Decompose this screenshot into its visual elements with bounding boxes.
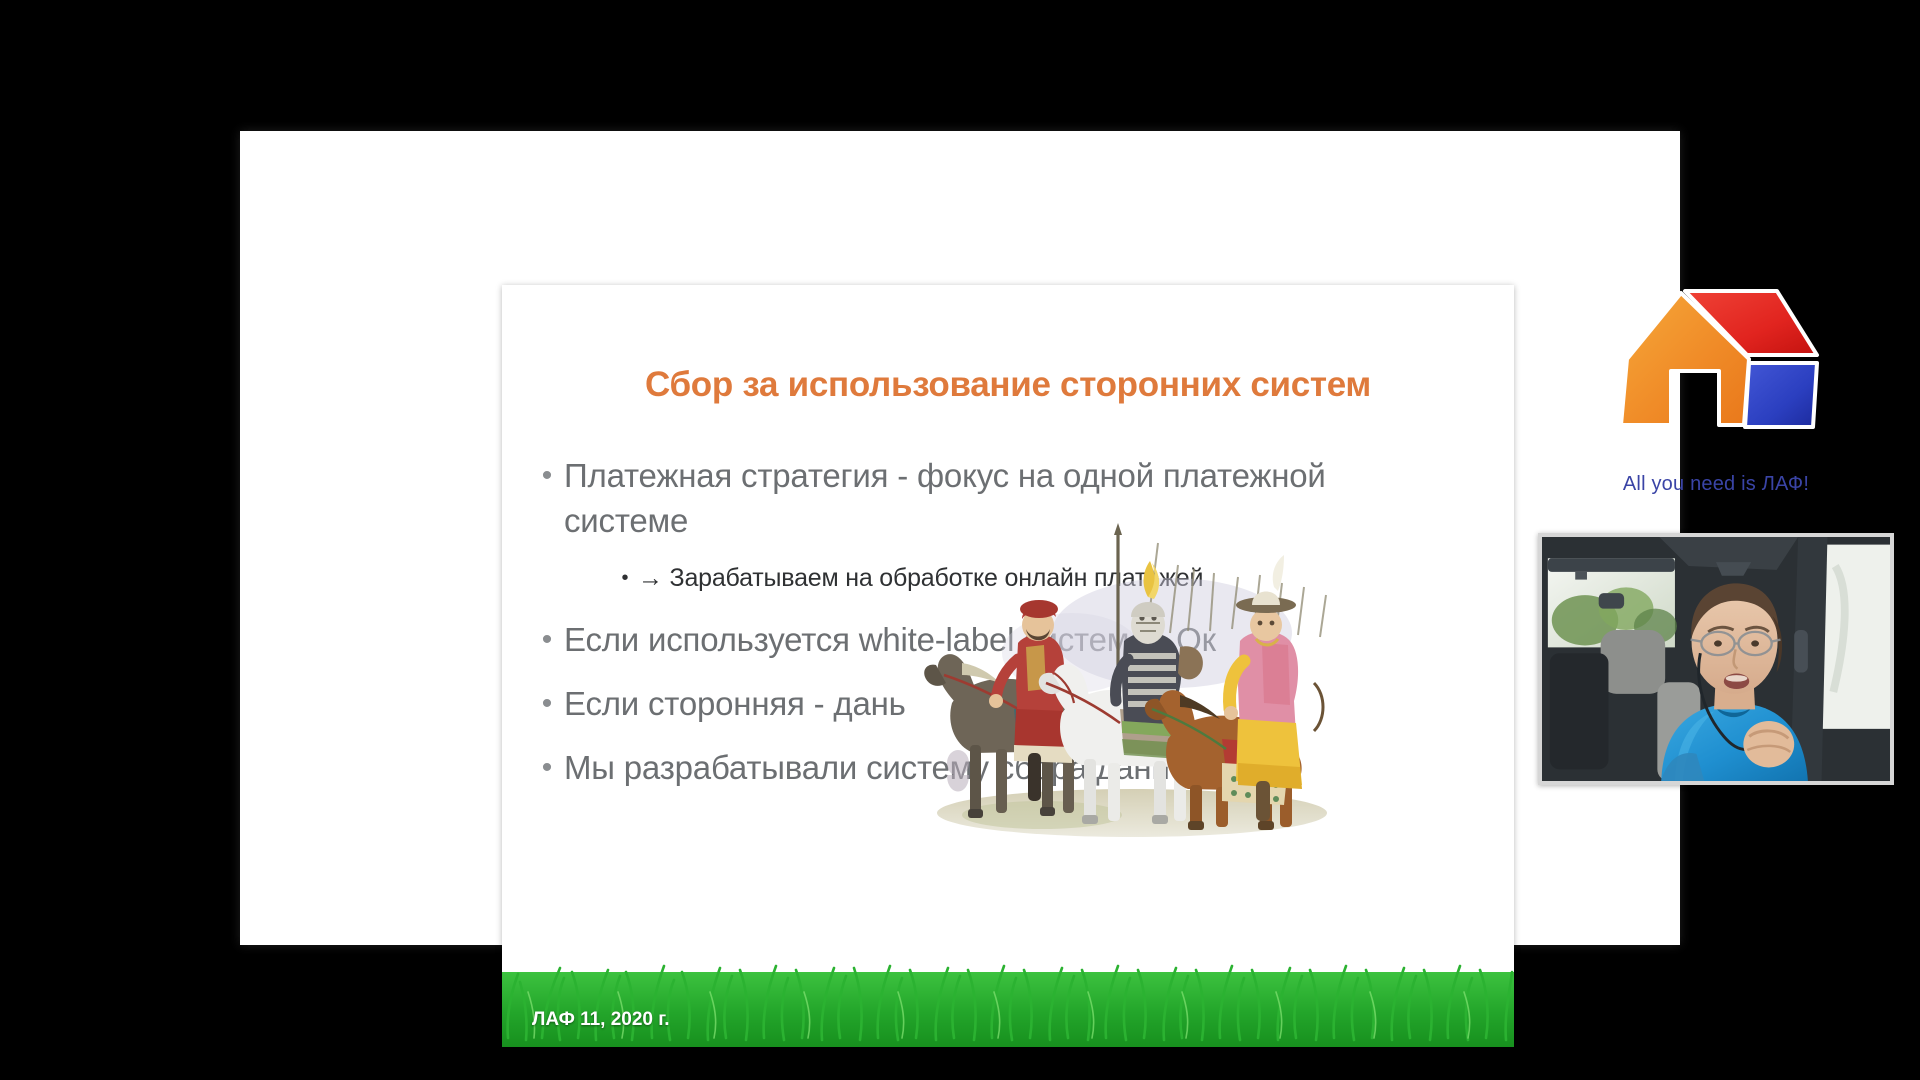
bullet-item: • Если используется white-label система … <box>530 617 1360 663</box>
participant-video-frame <box>1542 537 1890 781</box>
slide-grass-footer: ЛАФ 11, 2020 г. <box>502 942 1514 1047</box>
participant-video-stream <box>1542 537 1890 781</box>
grass-graphic <box>502 942 1514 1047</box>
sub-bullet-text: → Зарабатываем на обработке онлайн плате… <box>638 561 1203 595</box>
participant-video-tile[interactable] <box>1538 533 1894 785</box>
slide-title: Сбор за использование сторонних систем <box>502 365 1514 405</box>
bullet-dot-icon: • <box>530 453 564 499</box>
meeting-window: Сбор за использование сторонних систем •… <box>240 131 1680 945</box>
slide-bullet-list: • Платежная стратегия - фокус на одной п… <box>530 453 1360 809</box>
bullet-text: Мы разрабатывали систему сбора дани <box>564 745 1360 790</box>
screen-root: Сбор за использование сторонних систем •… <box>0 0 1920 1080</box>
brand-logo-block: All you need is ЛАФ! <box>1530 285 1902 496</box>
bullet-text: Если сторонняя - дань <box>564 681 1360 726</box>
bullet-dot-icon: • <box>530 617 564 663</box>
laf-house-logo-icon <box>1601 285 1831 465</box>
bullet-item: • Мы разрабатывали систему сбора дани <box>530 745 1360 791</box>
bullet-item: • Платежная стратегия - фокус на одной п… <box>530 453 1360 543</box>
bullet-dot-icon: • <box>530 681 564 727</box>
bullet-text: Если используется white-label система - … <box>564 617 1360 662</box>
bullet-dot-icon: • <box>530 745 564 791</box>
slide-footer-caption: ЛАФ 11, 2020 г. <box>532 1009 670 1031</box>
presentation-slide[interactable]: Сбор за использование сторонних систем •… <box>502 285 1514 1047</box>
bullet-item: • Если сторонняя - дань <box>530 681 1360 727</box>
brand-tagline: All you need is ЛАФ! <box>1530 473 1902 496</box>
sub-bullet-dot-icon: • <box>612 561 638 595</box>
right-panel: All you need is ЛАФ! <box>1530 285 1902 1047</box>
bullet-text: Платежная стратегия - фокус на одной пла… <box>564 453 1360 543</box>
sub-bullet-item: • → Зарабатываем на обработке онлайн пла… <box>612 561 1360 595</box>
